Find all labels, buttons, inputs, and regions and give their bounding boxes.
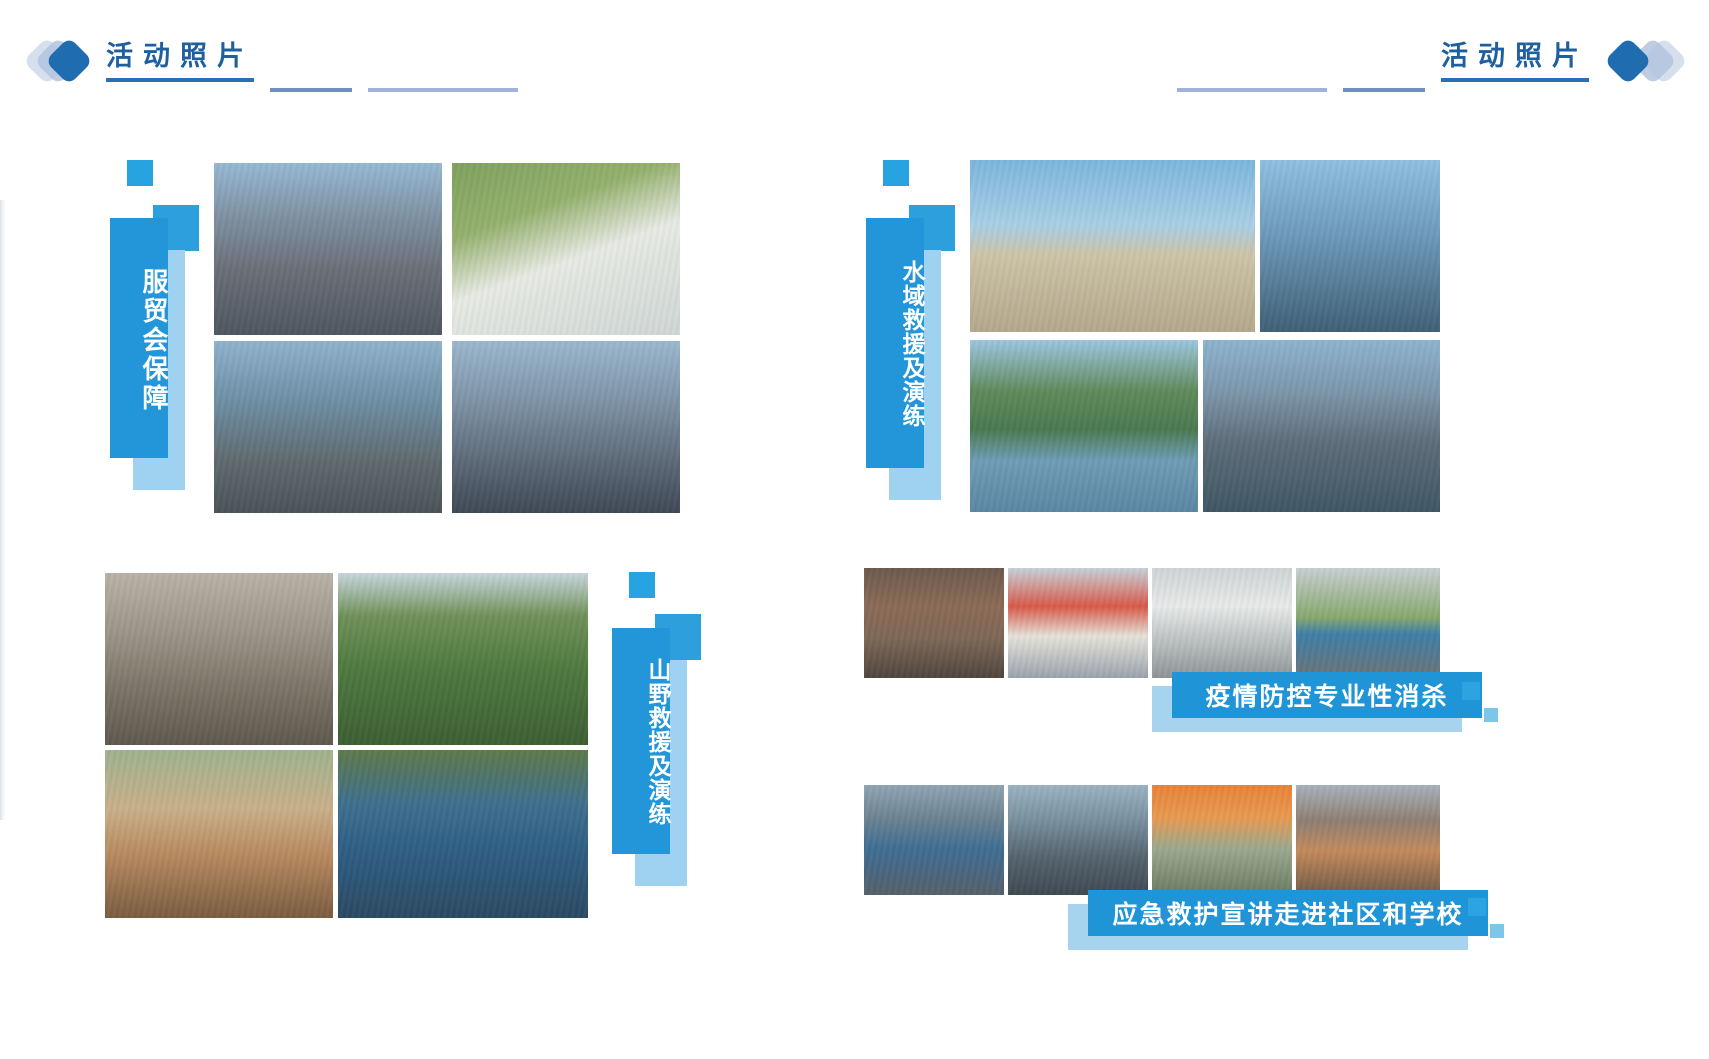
photo-texture — [864, 568, 1004, 678]
photo-xiaosha-3 — [1152, 568, 1292, 678]
photo-texture — [214, 341, 442, 513]
photo-texture — [105, 573, 333, 745]
ribbon-label-shuiyu: 水域救援及演练 — [866, 222, 924, 466]
photo-texture — [1260, 160, 1440, 332]
photo-texture — [1203, 340, 1440, 512]
photo-xiaosha-1 — [864, 568, 1004, 678]
photo-texture — [1296, 785, 1440, 895]
decor-square-small — [629, 572, 655, 598]
header-rule-medium-left — [270, 88, 352, 92]
ribbon-shanye: 山野救援及演练 — [612, 572, 712, 882]
photo-texture — [105, 750, 333, 918]
decor-square-small — [127, 160, 153, 186]
photo-texture — [970, 160, 1255, 332]
photo-xiaosha-4 — [1296, 568, 1440, 678]
photo-shuiyu-4 — [1203, 340, 1440, 512]
banner-label-jiuhu: 应急救护宣讲走进社区和学校 — [1112, 895, 1463, 931]
banner-jiuhu: 应急救护宣讲走进社区和学校 — [1068, 890, 1488, 950]
photo-texture — [338, 573, 588, 745]
photo-fuwumaohui-2 — [452, 163, 680, 335]
photo-shuiyu-3 — [970, 340, 1198, 512]
banner-label-xiaosha: 疫情防控专业性消杀 — [1205, 677, 1448, 713]
photo-shanye-2 — [338, 573, 588, 745]
header-rule-light-right — [1177, 88, 1327, 92]
photo-xiaosha-2 — [1008, 568, 1148, 678]
photo-texture — [338, 750, 588, 918]
photo-jiuhu-2 — [1008, 785, 1148, 895]
decor-square-small — [883, 160, 909, 186]
banner-xiaosha: 疫情防控专业性消杀 — [1152, 672, 1482, 732]
header-rule-light-left — [368, 88, 518, 92]
banner-bar: 疫情防控专业性消杀 — [1172, 672, 1482, 718]
activity-photos-page: 活动照片 活动照片 服贸会保障 — [0, 0, 1709, 1059]
decor-square — [1490, 924, 1504, 938]
photo-jiuhu-4 — [1296, 785, 1440, 895]
photo-texture — [1152, 568, 1292, 678]
ribbon-label-fuwumaohui: 服贸会保障 — [110, 230, 168, 450]
decor-square — [1462, 682, 1480, 700]
photo-texture — [970, 340, 1198, 512]
decor-square — [1468, 898, 1486, 916]
page-edge-shadow — [0, 200, 6, 820]
photo-texture — [452, 341, 680, 513]
photo-jiuhu-3 — [1152, 785, 1292, 895]
header-left: 活动照片 — [30, 30, 518, 92]
photo-fuwumaohui-3 — [214, 341, 442, 513]
photo-texture — [1008, 568, 1148, 678]
decor-square-cluster-jiuhu — [1468, 898, 1528, 958]
page-title-right: 活动照片 — [1441, 40, 1589, 82]
photo-texture — [864, 785, 1004, 895]
decor-square-cluster-xiaosha — [1462, 682, 1522, 742]
ribbon-label-shanye: 山野救援及演练 — [612, 632, 670, 852]
photo-shanye-3 — [105, 750, 333, 918]
photo-texture — [452, 163, 680, 335]
photo-fuwumaohui-1 — [214, 163, 442, 335]
photo-texture — [214, 163, 442, 335]
photo-shuiyu-1 — [970, 160, 1255, 332]
photo-texture — [1152, 785, 1292, 895]
photo-shanye-4 — [338, 750, 588, 918]
header-rule-medium-right — [1343, 88, 1425, 92]
photo-shanye-1 — [105, 573, 333, 745]
photo-texture — [1008, 785, 1148, 895]
page-title-left: 活动照片 — [106, 40, 254, 82]
ribbon-fuwumaohui: 服贸会保障 — [110, 160, 210, 490]
photo-shuiyu-2 — [1260, 160, 1440, 332]
photo-jiuhu-1 — [864, 785, 1004, 895]
photo-fuwumaohui-4 — [452, 341, 680, 513]
photo-texture — [1296, 568, 1440, 678]
diamond-cluster-icon — [30, 39, 106, 83]
banner-bar: 应急救护宣讲走进社区和学校 — [1088, 890, 1488, 936]
ribbon-shuiyu: 水域救援及演练 — [866, 160, 966, 490]
header-right: 活动照片 — [1177, 30, 1679, 92]
diamond-cluster-icon-right — [1603, 39, 1679, 83]
decor-square — [1484, 708, 1498, 722]
